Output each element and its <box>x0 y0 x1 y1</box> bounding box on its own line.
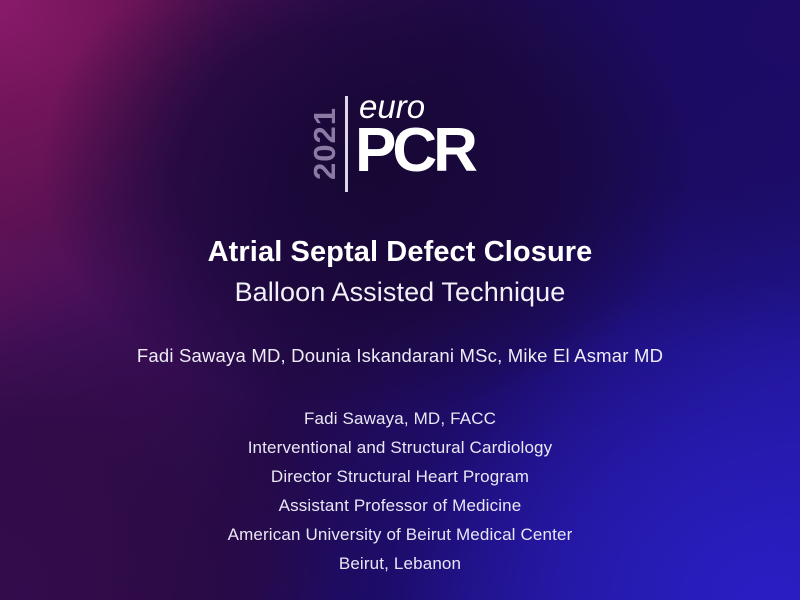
title-block: Atrial Septal Defect Closure Balloon Ass… <box>0 236 800 308</box>
europcr-logo: 2021 euro PCR <box>303 92 503 194</box>
slide-subtitle: Balloon Assisted Technique <box>0 276 800 308</box>
affiliation-line: Fadi Sawaya, MD, FACC <box>0 404 800 433</box>
logo-divider-rule <box>345 96 348 192</box>
logo-year-text: 2021 <box>309 107 340 180</box>
presentation-slide: 2021 euro PCR Atrial Septal Defect Closu… <box>0 0 800 600</box>
affiliation-line: Director Structural Heart Program <box>0 462 800 491</box>
affiliation-line: Assistant Professor of Medicine <box>0 491 800 520</box>
logo-year-vertical: 2021 <box>303 92 345 194</box>
authors-line: Fadi Sawaya MD, Dounia Iskandarani MSc, … <box>0 345 800 367</box>
logo-wordmark: euro PCR <box>357 92 503 194</box>
affiliation-line: Beirut, Lebanon <box>0 549 800 578</box>
logo-pcr-text: PCR <box>355 120 474 182</box>
slide-title: Atrial Septal Defect Closure <box>0 236 800 270</box>
affiliation-line: Interventional and Structural Cardiology <box>0 433 800 462</box>
affiliation-line: American University of Beirut Medical Ce… <box>0 520 800 549</box>
affiliation-block: Fadi Sawaya, MD, FACC Interventional and… <box>0 404 800 578</box>
